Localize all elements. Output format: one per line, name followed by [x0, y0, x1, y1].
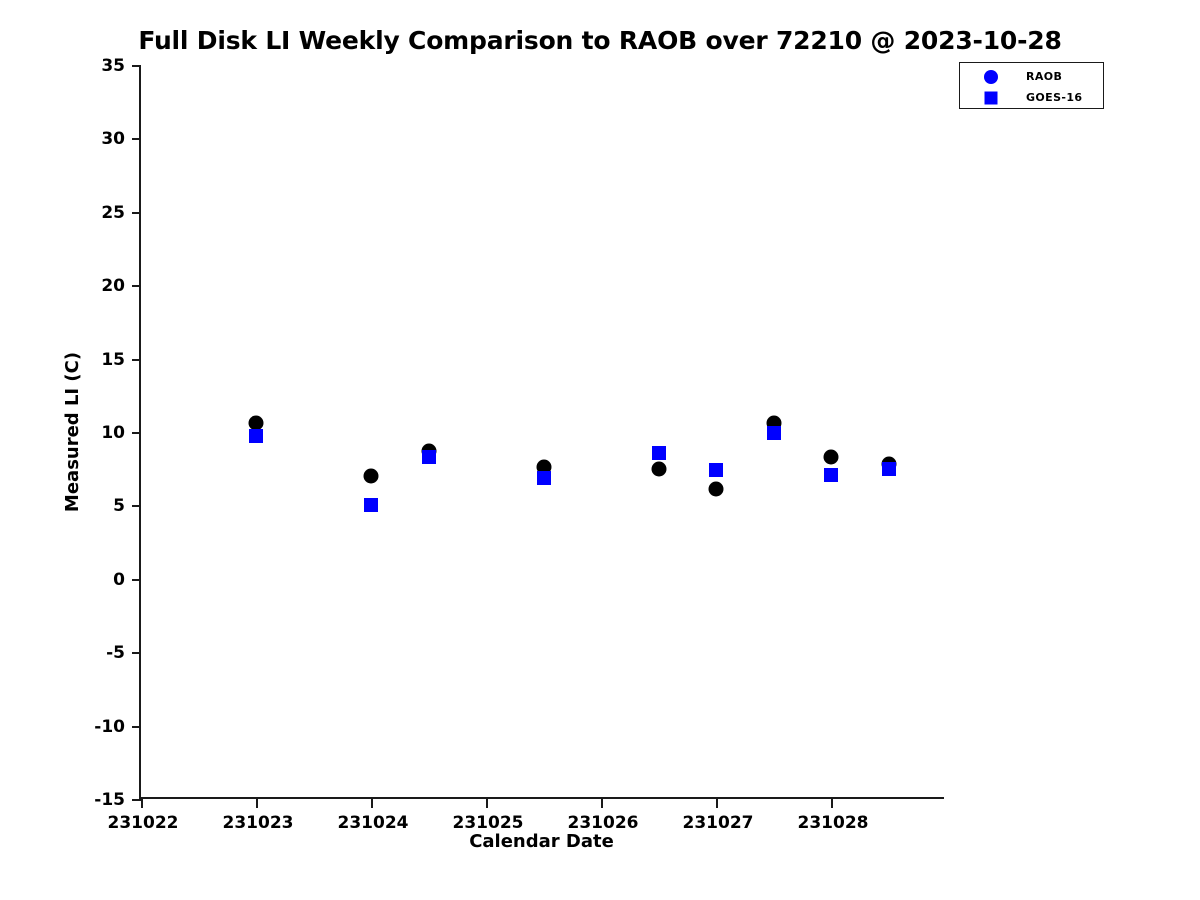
- x-axis-tick: 231023: [256, 799, 258, 808]
- y-axis-tick-label: 20: [101, 276, 125, 296]
- legend-item-raob[interactable]: RAOB: [960, 66, 1105, 87]
- data-point-raob: [364, 469, 379, 484]
- data-point-goes-16: [249, 429, 263, 443]
- y-axis-tick: 0: [132, 579, 141, 581]
- x-axis-tick: 231022: [141, 799, 143, 808]
- x-axis-label: Calendar Date: [139, 831, 944, 852]
- y-axis-tick-label: -15: [94, 790, 125, 810]
- x-axis-tick-label: 231023: [223, 813, 294, 833]
- x-axis-tick-label: 231027: [683, 813, 754, 833]
- x-axis-tick: 231024: [371, 799, 373, 808]
- y-axis-tick: 30: [132, 138, 141, 140]
- data-point-goes-16: [422, 450, 436, 464]
- legend-label: GOES-16: [1026, 91, 1083, 104]
- x-axis-tick: 231025: [486, 799, 488, 808]
- legend-marker-box: [960, 66, 1022, 87]
- data-point-goes-16: [652, 446, 666, 460]
- legend-label: RAOB: [1026, 70, 1062, 83]
- x-axis-tick-label: 231024: [338, 813, 409, 833]
- y-axis-tick-label: 30: [101, 129, 125, 149]
- chart-figure: Full Disk LI Weekly Comparison to RAOB o…: [0, 0, 1200, 900]
- data-layer: [141, 65, 946, 799]
- y-axis-tick: 35: [132, 65, 141, 67]
- x-axis-tick: 231027: [716, 799, 718, 808]
- data-point-goes-16: [767, 426, 781, 440]
- x-axis-tick-label: 231025: [453, 813, 524, 833]
- y-axis-tick: 20: [132, 285, 141, 287]
- legend-circle-icon: [984, 70, 998, 84]
- y-axis-tick: 5: [132, 505, 141, 507]
- data-point-goes-16: [364, 498, 378, 512]
- y-axis-tick: 25: [132, 212, 141, 214]
- y-axis-tick: -10: [132, 726, 141, 728]
- legend-item-goes-16[interactable]: GOES-16: [960, 87, 1105, 108]
- y-axis-tick-label: 35: [101, 56, 125, 76]
- plot-area: -15-10-505101520253035231022231023231024…: [139, 65, 944, 799]
- data-point-goes-16: [709, 463, 723, 477]
- y-axis-label: Measured LI (C): [62, 65, 88, 799]
- page-title: Full Disk LI Weekly Comparison to RAOB o…: [0, 26, 1200, 55]
- y-axis-tick: 10: [132, 432, 141, 434]
- x-axis-tick-label: 231026: [568, 813, 639, 833]
- y-axis-tick-label: 15: [101, 350, 125, 370]
- data-point-goes-16: [882, 462, 896, 476]
- legend-marker-box: [960, 87, 1022, 108]
- legend-square-icon: [985, 91, 998, 104]
- x-axis-tick: 231026: [601, 799, 603, 808]
- y-axis-tick-label: 5: [113, 496, 125, 516]
- data-point-goes-16: [824, 468, 838, 482]
- y-axis-tick: -5: [132, 652, 141, 654]
- data-point-goes-16: [537, 471, 551, 485]
- data-point-raob: [709, 482, 724, 497]
- y-axis-tick-label: 0: [113, 570, 125, 590]
- y-axis-tick: 15: [132, 359, 141, 361]
- y-axis-tick-label: -10: [94, 717, 125, 737]
- x-axis-tick: 231028: [831, 799, 833, 808]
- y-axis-tick-label: -5: [106, 643, 125, 663]
- y-axis-tick-label: 25: [101, 203, 125, 223]
- x-axis-tick-label: 231022: [108, 813, 179, 833]
- y-axis-tick: -15: [132, 799, 141, 801]
- y-axis-tick-label: 10: [101, 423, 125, 443]
- chart-legend: RAOBGOES-16: [959, 62, 1104, 109]
- data-point-raob: [651, 461, 666, 476]
- x-axis-tick-label: 231028: [798, 813, 869, 833]
- data-point-raob: [824, 449, 839, 464]
